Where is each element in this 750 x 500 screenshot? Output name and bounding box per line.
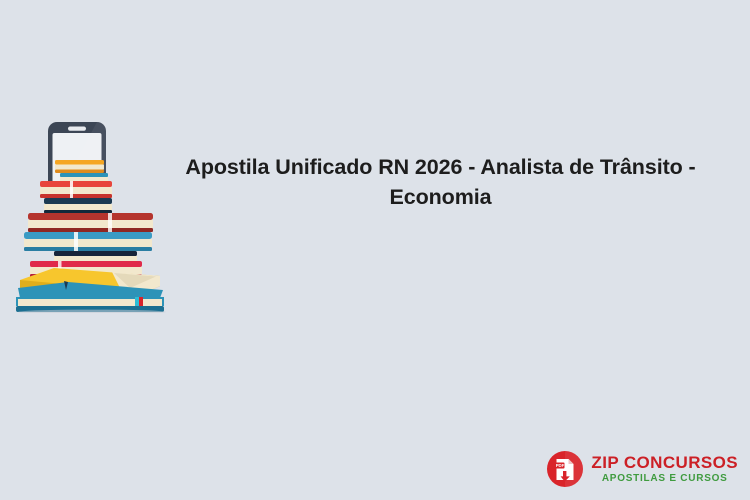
pdf-download-icon: PDF: [546, 450, 584, 488]
stack-of-books-with-tablet-illustration: Pilha de livros coloridos em frente a um…: [8, 118, 178, 313]
product-card: Pilha de livros coloridos em frente a um…: [0, 0, 750, 500]
product-title: Apostila Unificado RN 2026 - Analista de…: [168, 152, 713, 212]
book-layer-bluewide: [24, 232, 152, 251]
book-layer-red: [40, 181, 112, 198]
brand-tagline: APOSTILAS E CURSOS: [591, 474, 738, 484]
stack-of-books-svg: Pilha de livros coloridos em frente a um…: [8, 118, 178, 313]
svg-text:PDF: PDF: [556, 463, 565, 468]
brand-logo[interactable]: PDF ZIP CONCURSOS APOSTILAS E CURSOS: [546, 450, 738, 488]
book-layer-darknavy: [54, 251, 137, 261]
brand-name: ZIP CONCURSOS: [591, 454, 738, 471]
book-layer-orange: [55, 160, 104, 173]
book-layer-navy: [44, 198, 112, 214]
pdf-download-icon-svg: PDF: [546, 450, 584, 488]
book-layer-teal-sliver: [60, 173, 108, 181]
book-layer-darkred: [28, 213, 153, 232]
brand-wordmark: ZIP CONCURSOS APOSTILAS E CURSOS: [591, 454, 738, 484]
